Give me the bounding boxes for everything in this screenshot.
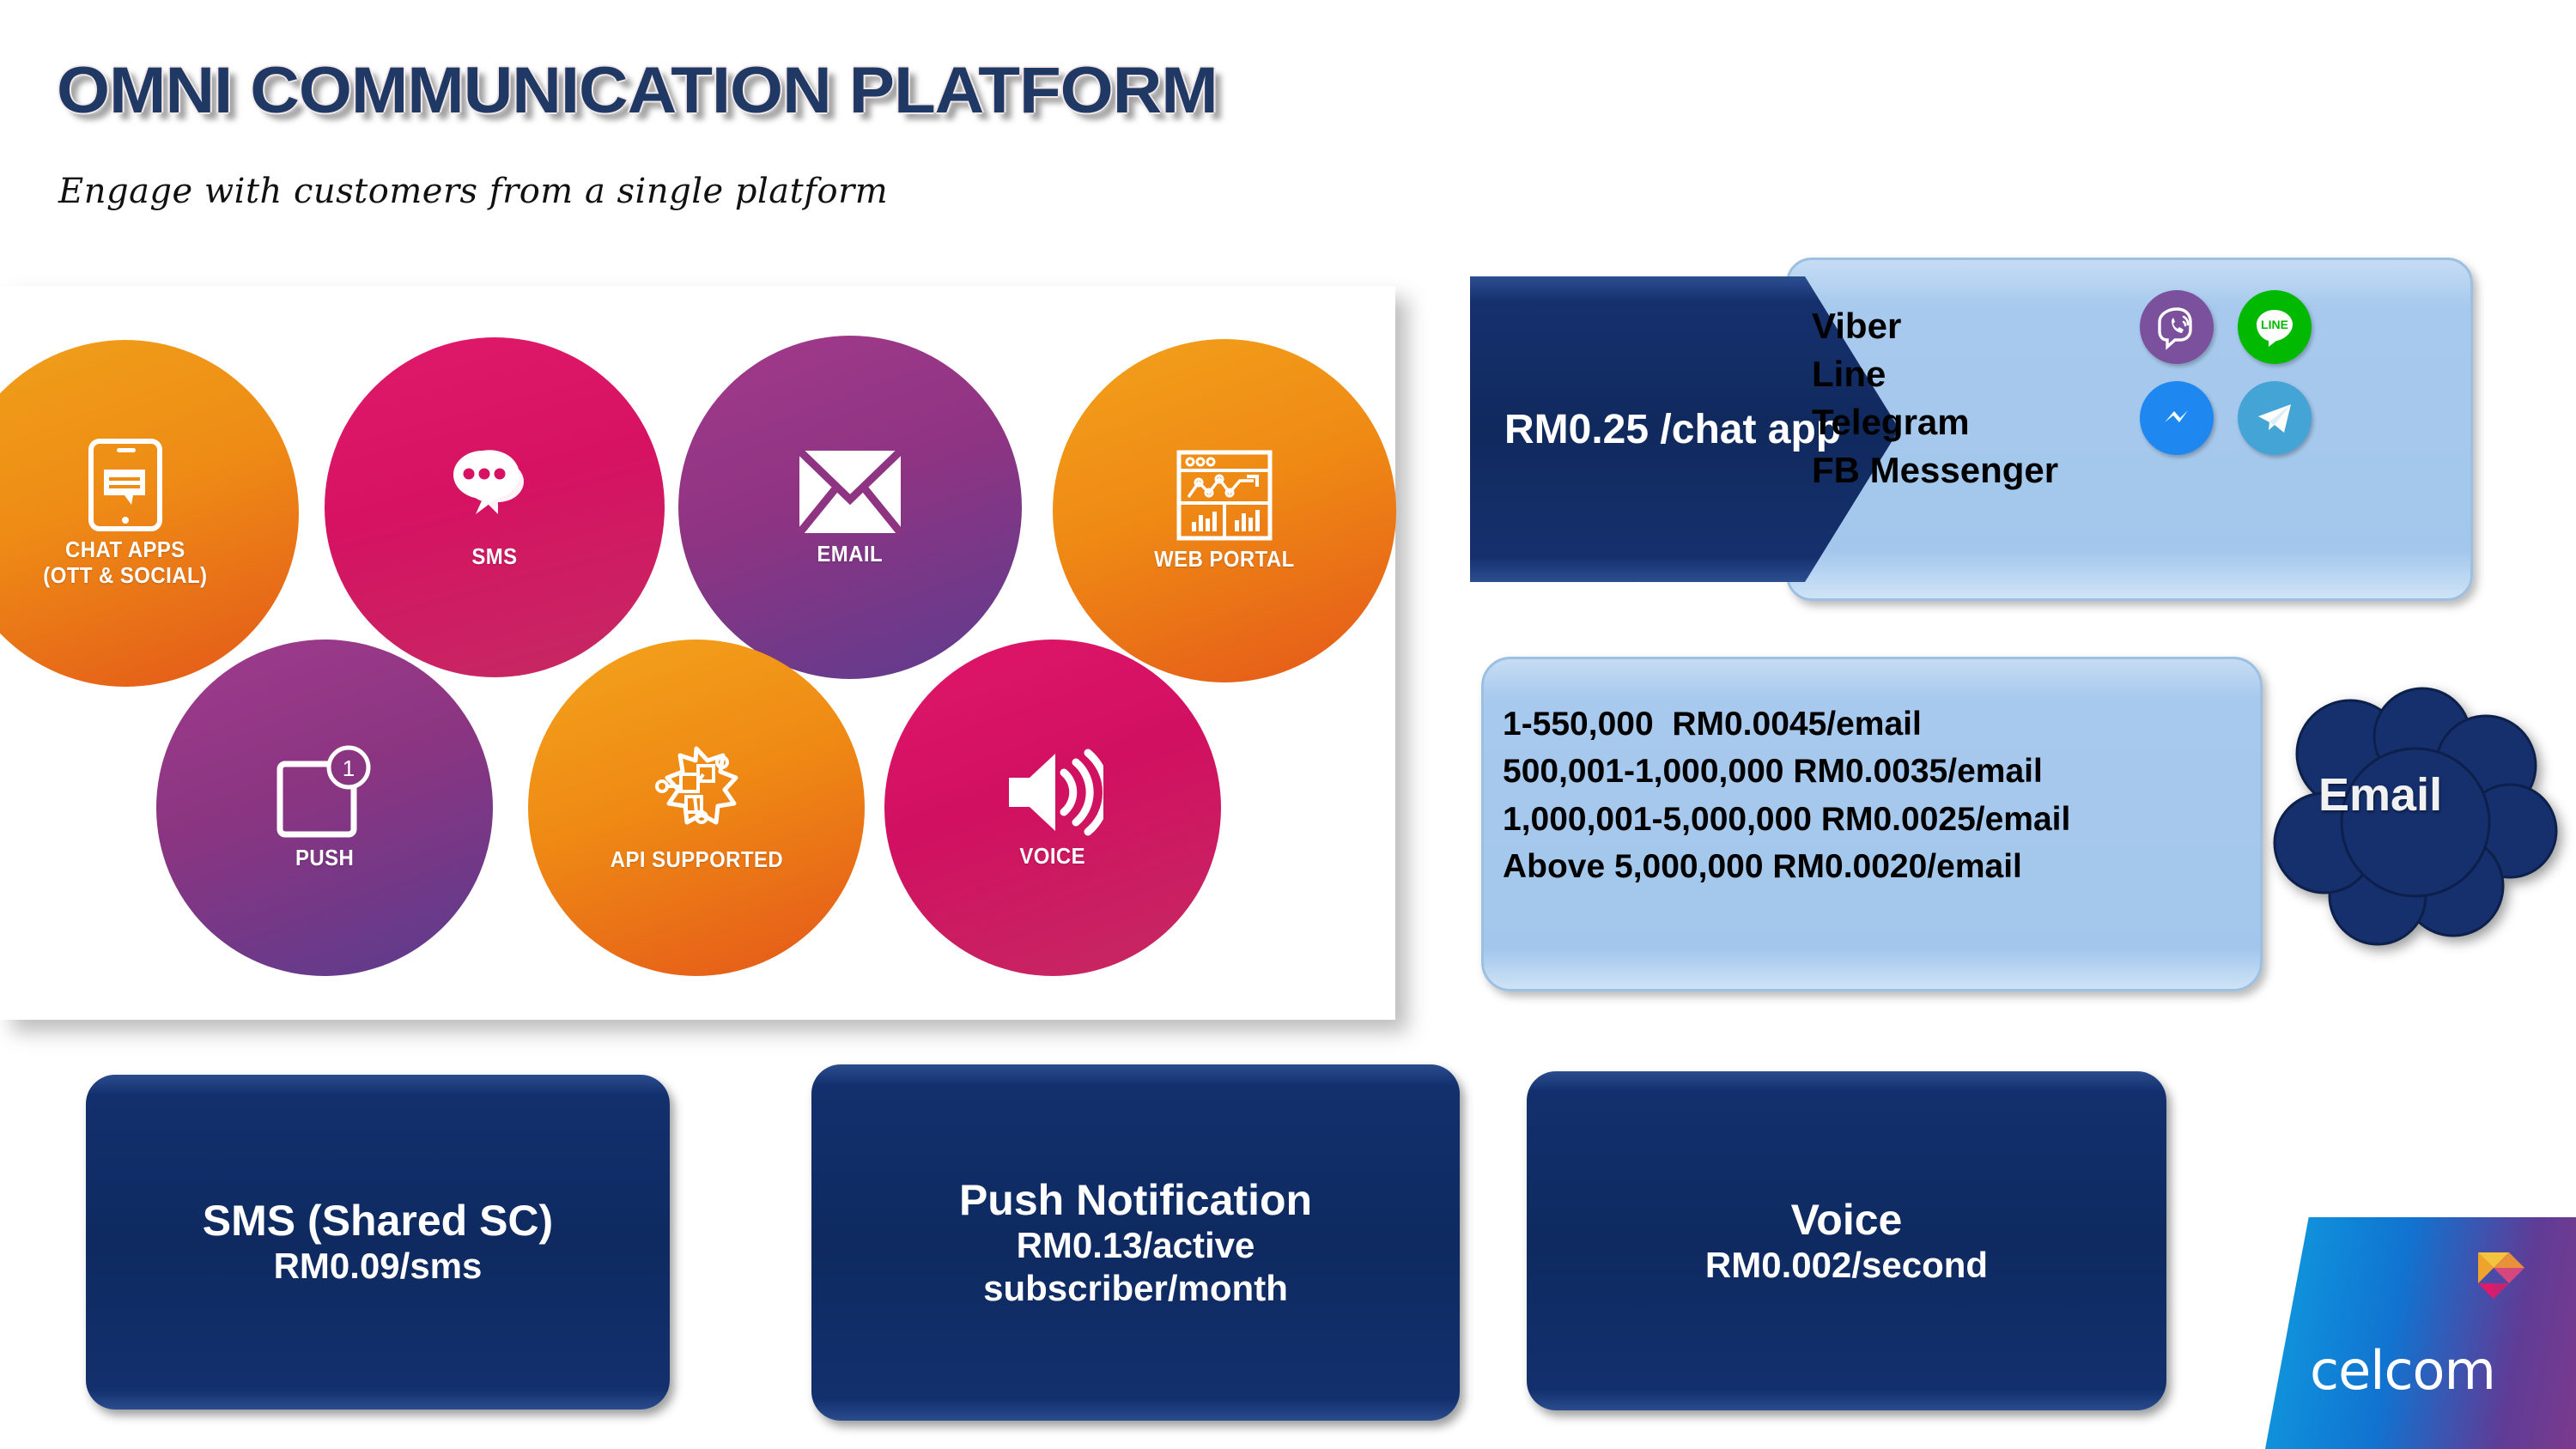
- email-tier-row: 1,000,001-5,000,000 RM0.0025/email: [1503, 796, 2260, 843]
- pricing-card-subtitle-2: subscriber/month: [983, 1267, 1288, 1310]
- mobile-chat-icon: [88, 439, 162, 531]
- svg-text:LINE: LINE: [2261, 318, 2288, 331]
- channel-label: EMAIL: [817, 541, 884, 567]
- notification-badge-icon: 1: [275, 745, 374, 840]
- channel-bubble-web-portal[interactable]: WEB PORTAL: [1053, 339, 1396, 682]
- telegram-icon[interactable]: [2238, 381, 2312, 455]
- email-tier-row: 1-550,000 RM0.0045/email: [1503, 700, 2260, 748]
- channel-bubble-voice[interactable]: VOICE: [884, 640, 1221, 976]
- email-tier-range: 1,000,001-5,000,000: [1503, 801, 1812, 838]
- pricing-card-subtitle: RM0.002/second: [1705, 1244, 1988, 1287]
- chat-app-name: Line: [1812, 350, 2058, 398]
- pricing-card-subtitle: RM0.13/active: [1017, 1224, 1255, 1267]
- page-subtitle: Engage with customers from a single plat…: [58, 172, 888, 211]
- fb-messenger-icon[interactable]: [2140, 381, 2214, 455]
- channel-label: SMS: [471, 543, 517, 569]
- email-tier-rate: RM0.0035/email: [1793, 753, 2043, 790]
- email-tier-rate: RM0.0025/email: [1821, 801, 2071, 838]
- channel-bubble-sms[interactable]: SMS: [325, 337, 665, 677]
- chat-app-name: Viber: [1812, 302, 2058, 350]
- line-icon[interactable]: LINE: [2238, 290, 2312, 364]
- email-pricing-box: 1-550,000 RM0.0045/email 500,001-1,000,0…: [1481, 657, 2263, 991]
- dashboard-icon: [1176, 450, 1273, 541]
- celcom-triangle-mark-icon: [2475, 1249, 2537, 1313]
- channel-bubble-push[interactable]: 1 PUSH: [156, 640, 493, 976]
- speaker-icon: [1002, 747, 1103, 838]
- channel-label: API SUPPORTED: [610, 846, 782, 872]
- celcom-wordmark: celcom: [2310, 1339, 2495, 1402]
- pricing-card-subtitle: RM0.09/sms: [274, 1245, 483, 1288]
- channel-label-line1: CHAT APPS: [65, 537, 185, 562]
- channel-label: VOICE: [1020, 843, 1086, 869]
- email-tier-row: 500,001-1,000,000 RM0.0035/email: [1503, 748, 2260, 795]
- channel-label: CHAT APPS (OTT & SOCIAL): [43, 537, 207, 588]
- chat-app-icon-grid: LINE: [2140, 290, 2312, 455]
- pricing-card-sms[interactable]: SMS (Shared SC) RM0.09/sms: [86, 1075, 670, 1410]
- channel-bubble-email[interactable]: EMAIL: [678, 336, 1022, 679]
- email-tier-rate: RM0.0045/email: [1672, 706, 1922, 743]
- email-tier-rate: RM0.0020/email: [1772, 848, 2022, 885]
- chat-app-pricing-callout: RM0.25 /chat app Viber Line Telegram FB …: [1470, 258, 2552, 601]
- email-tier-list: 1-550,000 RM0.0045/email 500,001-1,000,0…: [1503, 700, 2260, 891]
- gear-network-icon: [647, 743, 746, 841]
- email-tier-row: Above 5,000,000 RM0.0020/email: [1503, 843, 2260, 890]
- channel-bubble-api-supported[interactable]: API SUPPORTED: [528, 640, 865, 976]
- chat-app-name: FB Messenger: [1812, 446, 2058, 494]
- channel-label: WEB PORTAL: [1154, 546, 1295, 572]
- viber-icon[interactable]: [2140, 290, 2214, 364]
- pricing-card-title: SMS (Shared SC): [203, 1197, 553, 1245]
- svg-text:1: 1: [343, 755, 355, 781]
- channel-bubble-chat-apps[interactable]: CHAT APPS (OTT & SOCIAL): [0, 340, 299, 687]
- chat-app-name: Telegram: [1812, 398, 2058, 446]
- channels-panel: CHAT APPS (OTT & SOCIAL) SMS EMAIL: [0, 286, 1395, 1020]
- pricing-card-title: Voice: [1791, 1196, 1903, 1244]
- pricing-card-push[interactable]: Push Notification RM0.13/active subscrib…: [811, 1064, 1460, 1421]
- email-cloud-shape: [2271, 687, 2563, 970]
- channel-label-line2: (OTT & SOCIAL): [43, 562, 207, 588]
- email-tier-range: 1-550,000: [1503, 706, 1654, 743]
- pricing-card-voice[interactable]: Voice RM0.002/second: [1527, 1071, 2166, 1410]
- channel-label: PUSH: [295, 845, 354, 870]
- email-cloud-label: Email: [2318, 768, 2442, 822]
- page-title: OMNI COMMUNICATION PLATFORM: [57, 53, 1218, 128]
- chat-app-list: Viber Line Telegram FB Messenger: [1812, 302, 2058, 494]
- speech-bubbles-icon: [447, 446, 543, 538]
- chat-app-price-label: RM0.25 /chat app: [1504, 406, 1841, 453]
- envelope-icon: [797, 448, 903, 536]
- pricing-card-title: Push Notification: [959, 1176, 1312, 1224]
- email-tier-range: 500,001-1,000,000: [1503, 753, 1783, 790]
- email-tier-range: Above 5,000,000: [1503, 848, 1764, 885]
